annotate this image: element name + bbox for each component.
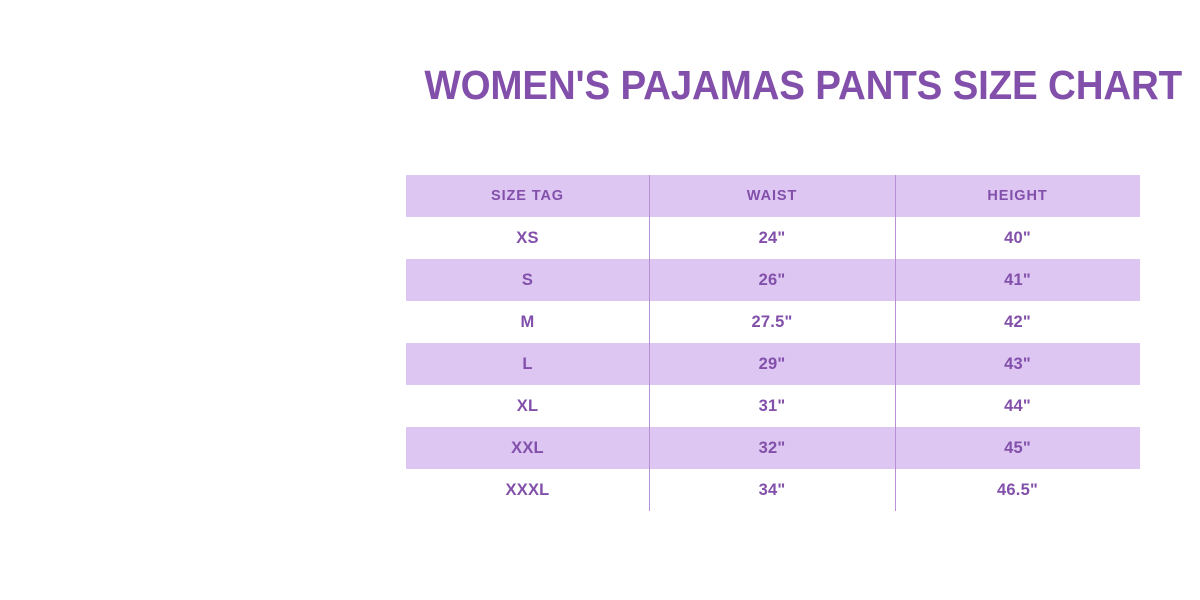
size-chart-table-wrapper: SIZE TAG WAIST HEIGHT XS 24" 40" S 26" 4… <box>406 175 1140 511</box>
column-header-waist: WAIST <box>649 175 895 217</box>
cell-height: 44" <box>895 385 1140 427</box>
cell-waist: 27.5" <box>649 301 895 343</box>
cell-waist: 29" <box>649 343 895 385</box>
cell-size-tag: XXL <box>406 427 649 469</box>
cell-size-tag: L <box>406 343 649 385</box>
size-chart-table: SIZE TAG WAIST HEIGHT XS 24" 40" S 26" 4… <box>406 175 1140 511</box>
cell-height: 45" <box>895 427 1140 469</box>
cell-waist: 31" <box>649 385 895 427</box>
cell-waist: 24" <box>649 217 895 259</box>
cell-size-tag: XS <box>406 217 649 259</box>
table-header-row: SIZE TAG WAIST HEIGHT <box>406 175 1140 217</box>
cell-waist: 26" <box>649 259 895 301</box>
cell-height: 41" <box>895 259 1140 301</box>
table-row: XXXL 34" 46.5" <box>406 469 1140 511</box>
cell-height: 40" <box>895 217 1140 259</box>
cell-waist: 34" <box>649 469 895 511</box>
cell-height: 42" <box>895 301 1140 343</box>
table-header: SIZE TAG WAIST HEIGHT <box>406 175 1140 217</box>
cell-size-tag: M <box>406 301 649 343</box>
table-row: S 26" 41" <box>406 259 1140 301</box>
cell-size-tag: S <box>406 259 649 301</box>
cell-size-tag: XL <box>406 385 649 427</box>
cell-waist: 32" <box>649 427 895 469</box>
table-row: L 29" 43" <box>406 343 1140 385</box>
table-row: M 27.5" 42" <box>406 301 1140 343</box>
cell-size-tag: XXXL <box>406 469 649 511</box>
cell-height: 43" <box>895 343 1140 385</box>
table-body: XS 24" 40" S 26" 41" M 27.5" 42" L 29" <box>406 217 1140 511</box>
table-row: XL 31" 44" <box>406 385 1140 427</box>
column-header-size-tag: SIZE TAG <box>406 175 649 217</box>
cell-height: 46.5" <box>895 469 1140 511</box>
table-row: XXL 32" 45" <box>406 427 1140 469</box>
table-row: XS 24" 40" <box>406 217 1140 259</box>
column-header-height: HEIGHT <box>895 175 1140 217</box>
page-title: WOMEN'S PAJAMAS PANTS SIZE CHART <box>71 62 1182 109</box>
size-chart-page: WOMEN'S PAJAMAS PANTS SIZE CHART SIZE TA… <box>0 0 1200 600</box>
